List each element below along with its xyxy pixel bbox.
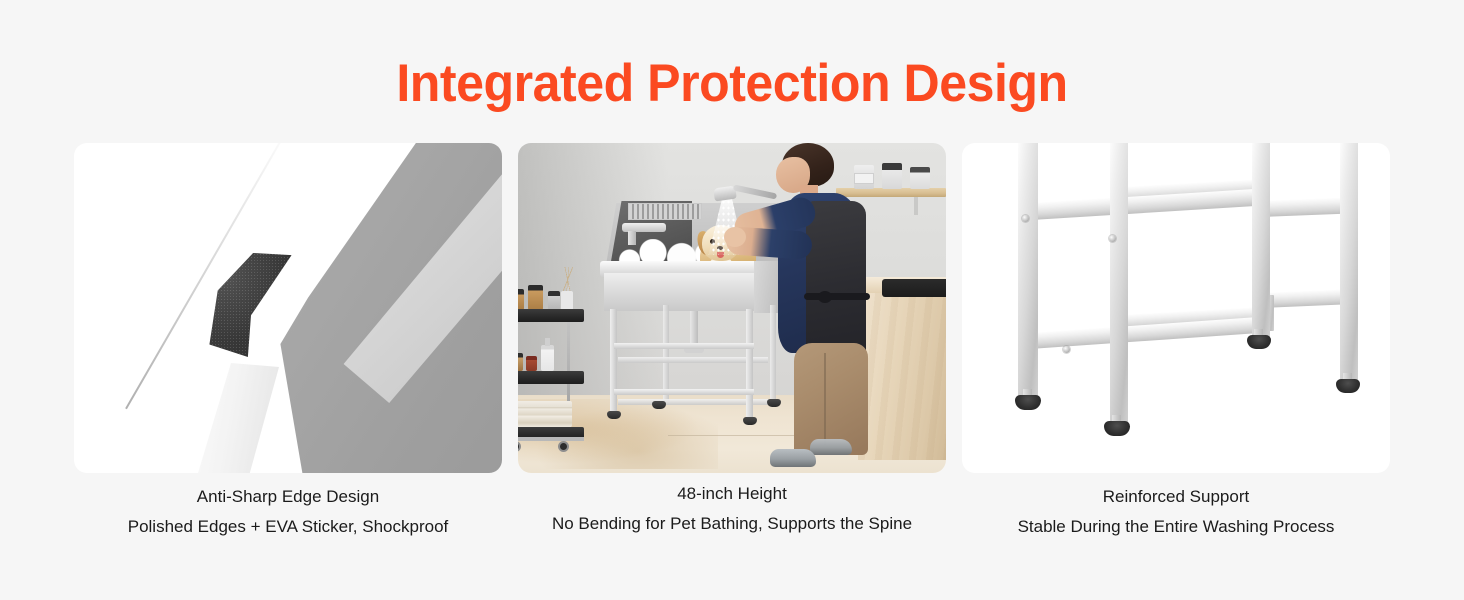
frame-screw [1063, 346, 1070, 353]
cart-base [518, 437, 584, 441]
frame-leg [1252, 143, 1270, 339]
cart-caster-wheel [518, 441, 521, 452]
tub-leg [746, 309, 753, 419]
feature-panels [74, 143, 1390, 473]
tub-leg [610, 309, 617, 413]
frame-leg [1018, 143, 1038, 399]
tub-foot [652, 401, 666, 409]
frame-leg [1110, 143, 1128, 429]
frame-screw [1109, 235, 1116, 242]
tub-foot [767, 399, 781, 407]
person-hand [724, 227, 746, 247]
cabinet-basin [882, 279, 946, 297]
feature-banner: Integrated Protection Design [0, 0, 1464, 600]
amber-bottle [528, 285, 543, 310]
amber-bottle [518, 353, 523, 371]
caption-48-inch-height: 48-inch Height No Bending for Pet Bathin… [518, 486, 946, 556]
feature-image-anti-sharp-edge [74, 143, 502, 473]
reed-diffuser-bottle [561, 291, 573, 310]
cart-shelf [518, 371, 584, 384]
wall-shelf [836, 188, 946, 197]
shelf-jar [882, 163, 902, 189]
feature-image-reinforced-support [962, 143, 1390, 473]
folded-towels [518, 401, 572, 427]
shelf-jar [854, 165, 874, 189]
rolling-utility-cart [518, 261, 586, 461]
tub-foot [607, 411, 621, 419]
wood-grain-texture [858, 293, 946, 460]
adjustable-foot [1336, 379, 1360, 393]
trouser-seam [824, 353, 826, 445]
caption-headline: Anti-Sharp Edge Design [74, 486, 502, 508]
person-shoe [810, 439, 852, 455]
pump-bottle [541, 345, 554, 371]
caption-headline: 48-inch Height [518, 483, 946, 505]
shelf-bracket [914, 197, 918, 215]
adjustable-foot [1247, 335, 1271, 349]
grooming-bottle [548, 291, 560, 310]
steel-corner-illustration [74, 143, 502, 473]
caption-anti-sharp-edge: Anti-Sharp Edge Design Polished Edges + … [74, 486, 502, 556]
apron-belt-knot [818, 291, 832, 303]
frame-leg [1340, 143, 1358, 385]
adjustable-foot [1015, 395, 1041, 410]
cart-caster-wheel [558, 441, 569, 452]
caption-reinforced-support: Reinforced Support Stable During the Ent… [962, 486, 1390, 556]
shelf-jar [910, 167, 930, 189]
reed-diffuser-sticks [562, 267, 574, 293]
caption-subtext: Polished Edges + EVA Sticker, Shockproof [74, 516, 502, 538]
cart-shelf [518, 309, 584, 322]
amber-bottle [518, 289, 524, 310]
tub-crossbar [614, 343, 754, 349]
frame-screw [1022, 215, 1029, 222]
tub-crossbar [614, 389, 754, 395]
caption-headline: Reinforced Support [962, 486, 1390, 508]
tub-leg [770, 305, 776, 401]
tub-leg [663, 305, 669, 401]
apron-belt [804, 293, 870, 300]
page-title: Integrated Protection Design [40, 57, 1423, 110]
tub-foot [743, 417, 757, 425]
caption-subtext: No Bending for Pet Bathing, Supports the… [518, 513, 946, 535]
tub-drain-grate [628, 203, 702, 220]
adjustable-foot [1104, 421, 1130, 436]
feature-captions: Anti-Sharp Edge Design Polished Edges + … [74, 486, 1390, 556]
pet-bathing-scene [518, 143, 946, 473]
red-bottle [526, 356, 537, 371]
caption-subtext: Stable During the Entire Washing Process [962, 516, 1390, 538]
feature-image-48-inch-height [518, 143, 946, 473]
person-shoe [770, 449, 816, 467]
